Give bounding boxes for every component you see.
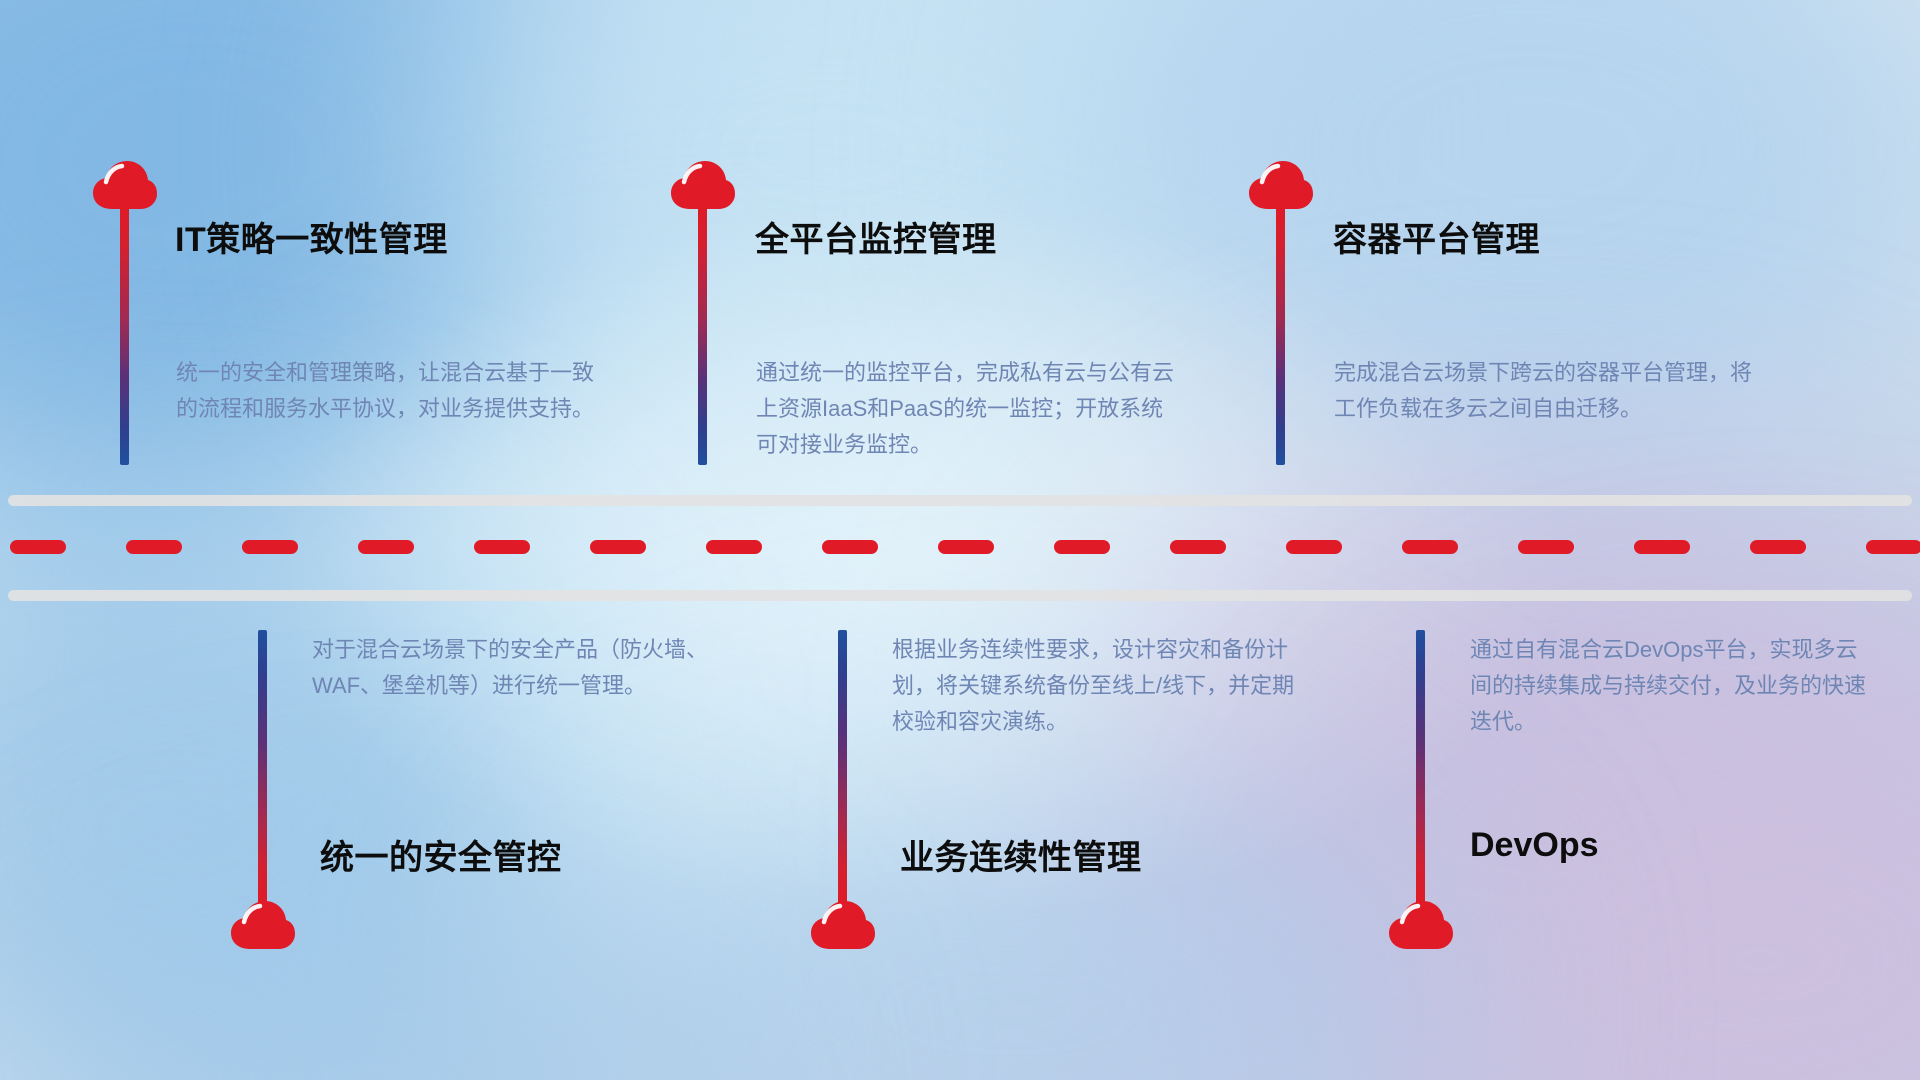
- cloud-icon: [670, 160, 736, 210]
- bottom-item-description: 对于混合云场景下的安全产品（防火墙、WAF、堡垒机等）进行统一管理。: [312, 632, 732, 704]
- connector-stem: [698, 205, 707, 465]
- cloud-icon: [1248, 160, 1314, 210]
- road-dash: [1634, 540, 1690, 554]
- road-dash: [1866, 540, 1920, 554]
- road-line-bottom: [8, 590, 1912, 601]
- bottom-item-description: 根据业务连续性要求，设计容灾和备份计划，将关键系统备份至线上/线下，并定期校验和…: [892, 632, 1312, 740]
- road-dash: [10, 540, 66, 554]
- top-item-title: 容器平台管理: [1333, 212, 1540, 261]
- top-item-description: 通过统一的监控平台，完成私有云与公有云上资源IaaS和PaaS的统一监控；开放系…: [756, 355, 1176, 463]
- road-dash: [1054, 540, 1110, 554]
- connector-stem: [838, 630, 847, 905]
- bottom-item-title: 业务连续性管理: [900, 830, 1142, 879]
- road-dash: [474, 540, 530, 554]
- cloud-icon: [92, 160, 158, 210]
- connector-stem: [1416, 630, 1425, 905]
- connector-stem: [120, 205, 129, 465]
- road-dash: [1518, 540, 1574, 554]
- road-dashes: [0, 540, 1920, 554]
- top-item-title: 全平台监控管理: [755, 212, 997, 261]
- road-dash: [1170, 540, 1226, 554]
- connector-stem: [258, 630, 267, 905]
- road-dash: [1402, 540, 1458, 554]
- top-item-description: 完成混合云场景下跨云的容器平台管理，将工作负载在多云之间自由迁移。: [1334, 355, 1764, 427]
- top-item-title: IT策略一致性管理: [175, 212, 448, 261]
- road-dash: [706, 540, 762, 554]
- bottom-item-title: DevOps: [1470, 826, 1599, 865]
- road-dash: [1750, 540, 1806, 554]
- road-dash: [822, 540, 878, 554]
- road-dash: [590, 540, 646, 554]
- road-line-top: [8, 495, 1912, 506]
- road-dash: [938, 540, 994, 554]
- road-dash: [358, 540, 414, 554]
- top-item-description: 统一的安全和管理策略，让混合云基于一致的流程和服务水平协议，对业务提供支持。: [176, 355, 596, 427]
- bottom-item-title: 统一的安全管控: [320, 830, 562, 879]
- cloud-icon: [1388, 900, 1454, 950]
- cloud-icon: [810, 900, 876, 950]
- bottom-item-description: 通过自有混合云DevOps平台，实现多云间的持续集成与持续交付，及业务的快速迭代…: [1470, 632, 1870, 740]
- road-dash: [126, 540, 182, 554]
- connector-stem: [1276, 205, 1285, 465]
- road-dash: [1286, 540, 1342, 554]
- road-dash: [242, 540, 298, 554]
- cloud-icon: [230, 900, 296, 950]
- infographic-canvas: IT策略一致性管理 统一的安全和管理策略，让混合云基于一致的流程和服务水平协议，…: [0, 0, 1920, 1080]
